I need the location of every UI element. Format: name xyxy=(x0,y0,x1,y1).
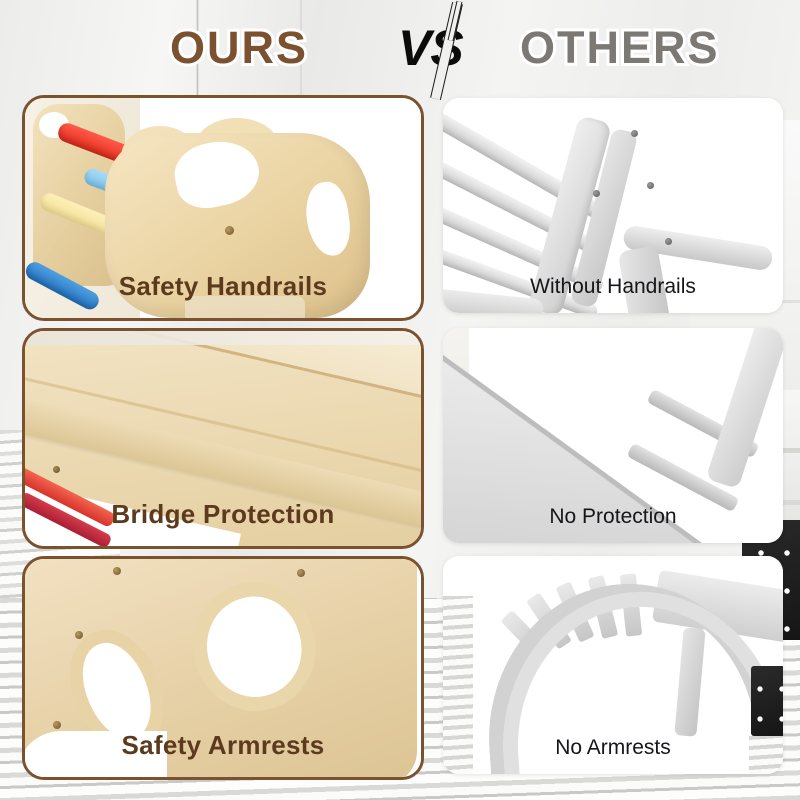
others-caption-armrests: No Armrests xyxy=(443,736,783,760)
ours-panel-handrails: Safety Handrails xyxy=(22,95,424,321)
screw-icon xyxy=(75,631,83,639)
others-caption-protection: No Protection xyxy=(443,505,783,529)
screw-icon xyxy=(297,569,305,577)
screw-icon xyxy=(53,466,60,473)
comparison-infographic: OURS VS OTHERS Safety Handrails xyxy=(0,0,800,800)
ours-panel-armrests: Safety Armrests xyxy=(22,556,424,780)
screw-icon xyxy=(53,721,61,729)
ours-title: OURS xyxy=(170,22,308,74)
others-panel-armrests: No Armrests xyxy=(443,556,783,774)
header: OURS VS OTHERS xyxy=(0,0,800,92)
others-panel-protection: No Protection xyxy=(443,328,783,543)
screw-icon xyxy=(225,226,234,235)
ours-caption-handrails: Safety Handrails xyxy=(25,271,421,302)
others-title: OTHERS xyxy=(520,22,720,74)
vs-badge: VS xyxy=(392,10,500,94)
others-caption-handrails: Without Handrails xyxy=(443,275,783,299)
ours-caption-armrests: Safety Armrests xyxy=(25,730,421,761)
ours-caption-bridge: Bridge Protection xyxy=(25,499,421,530)
screw-icon xyxy=(113,567,121,575)
ours-panel-bridge: Bridge Protection xyxy=(22,328,424,549)
others-panel-handrails: Without Handrails xyxy=(443,98,783,313)
